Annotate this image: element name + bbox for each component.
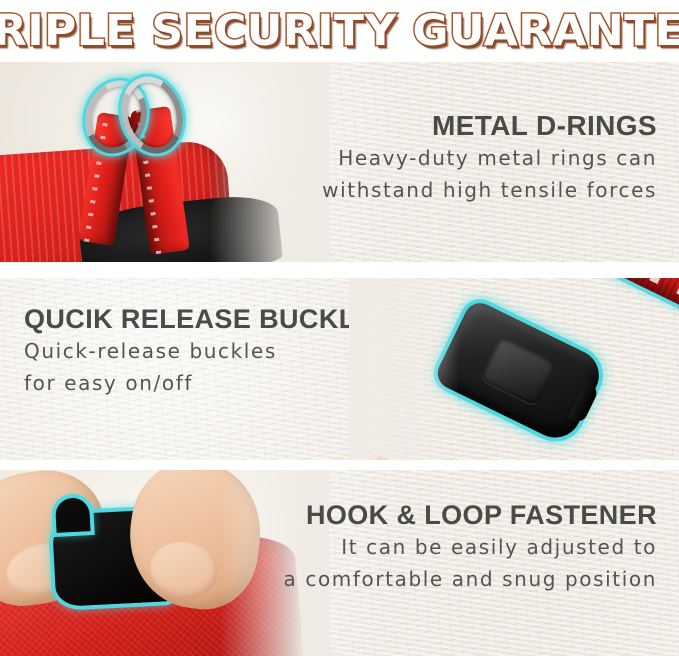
photo-edge-fade [210,62,330,262]
feature-body-line: for easy on/off [24,367,374,399]
feature-heading: HOOK & LOOP FASTENER [284,500,657,531]
photo-hook-and-loop-fastener [0,470,330,656]
title-banner: TRIPLE SECURITY GUARANTEE [0,0,679,62]
hook-and-loop-pull-tab [55,497,91,533]
feature-panel-metal-d-rings: METAL D-RINGS Heavy-duty metal rings can… [0,62,679,262]
feature-body-line: a comfortable and snug position [284,563,657,595]
webbing-strap-upper [510,278,679,323]
feature-body-line: Quick-release buckles [24,335,374,367]
feature-heading: QUCIK RELEASE BUCKLE [24,304,374,335]
feature-body-line: Heavy-duty metal rings can [322,142,657,174]
photo-quick-release-buckle [349,278,679,460]
feature-panel-quick-release-buckle: QUCIK RELEASE BUCKLE Quick-release buckl… [0,278,679,460]
text-block-quick-release-buckle: QUCIK RELEASE BUCKLE Quick-release buckl… [24,304,374,399]
photo-metal-d-rings [0,62,330,262]
page-title: TRIPLE SECURITY GUARANTEE [0,6,679,56]
text-block-hook-and-loop-fastener: HOOK & LOOP FASTENER It can be easily ad… [284,500,657,595]
feature-body-line: It can be easily adjusted to [284,531,657,563]
feature-heading: METAL D-RINGS [322,110,657,142]
text-block-metal-d-rings: METAL D-RINGS Heavy-duty metal rings can… [322,110,657,206]
feature-panel-hook-and-loop-fastener: HOOK & LOOP FASTENER It can be easily ad… [0,470,679,656]
feature-body-line: withstand high tensile forces [322,174,657,206]
photo-edge-fade [349,278,459,460]
